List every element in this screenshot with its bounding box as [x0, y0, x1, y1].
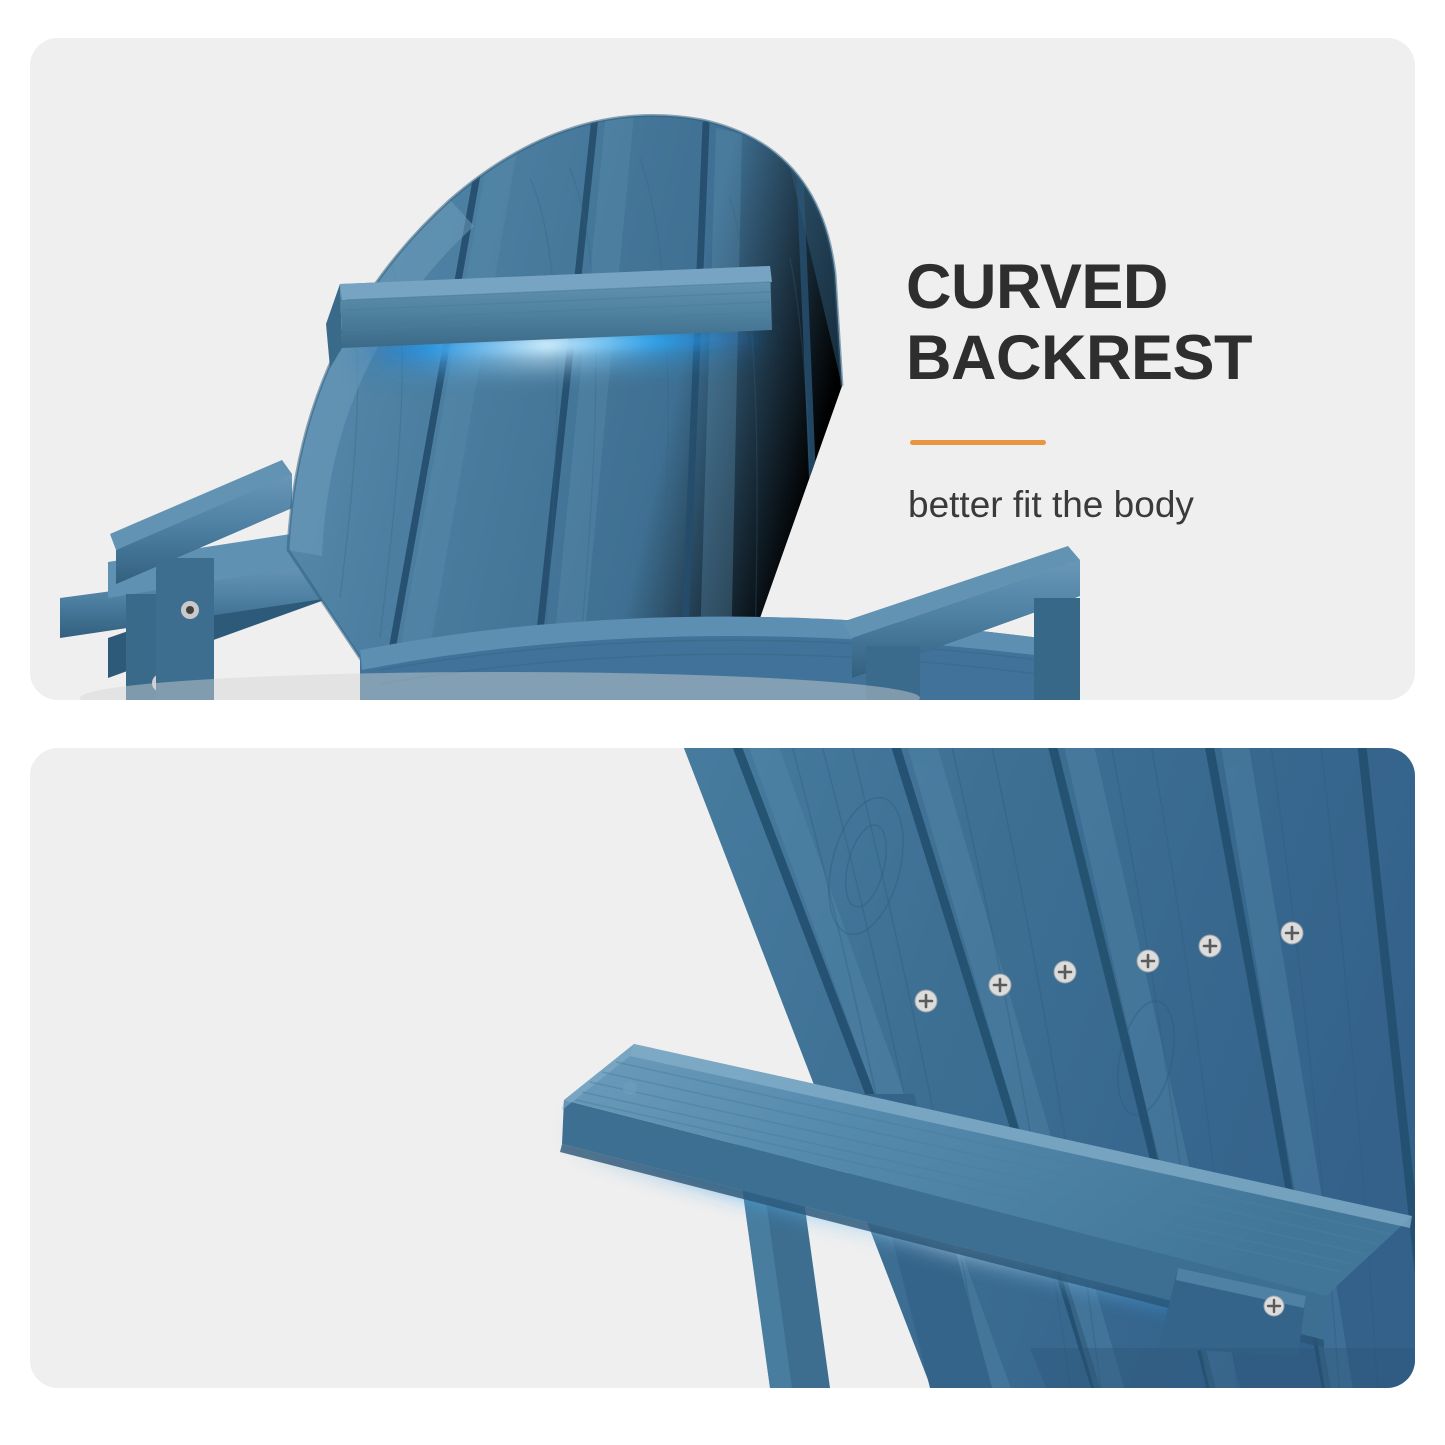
accent-divider-curved-backrest: [910, 440, 1046, 445]
chair-backrest-crossbar: [326, 266, 774, 372]
feature-subline-curved-backrest: better fit the body: [908, 483, 1376, 527]
screw-icon: [623, 1081, 637, 1095]
feature-panel-curved-backrest: CURVED BACKREST better fit the body: [30, 38, 1415, 700]
feature-panel-wide-armrests: WIDE ARMRESTS for better arm relaxation: [30, 748, 1415, 1388]
feature-copy-curved-backrest: CURVED BACKREST better fit the body: [906, 252, 1376, 528]
chair-armrest-photo: [30, 748, 1415, 1388]
marketing-image-canvas: CURVED BACKREST better fit the body: [0, 0, 1445, 1445]
feature-headline-curved-backrest: CURVED BACKREST: [906, 252, 1376, 394]
